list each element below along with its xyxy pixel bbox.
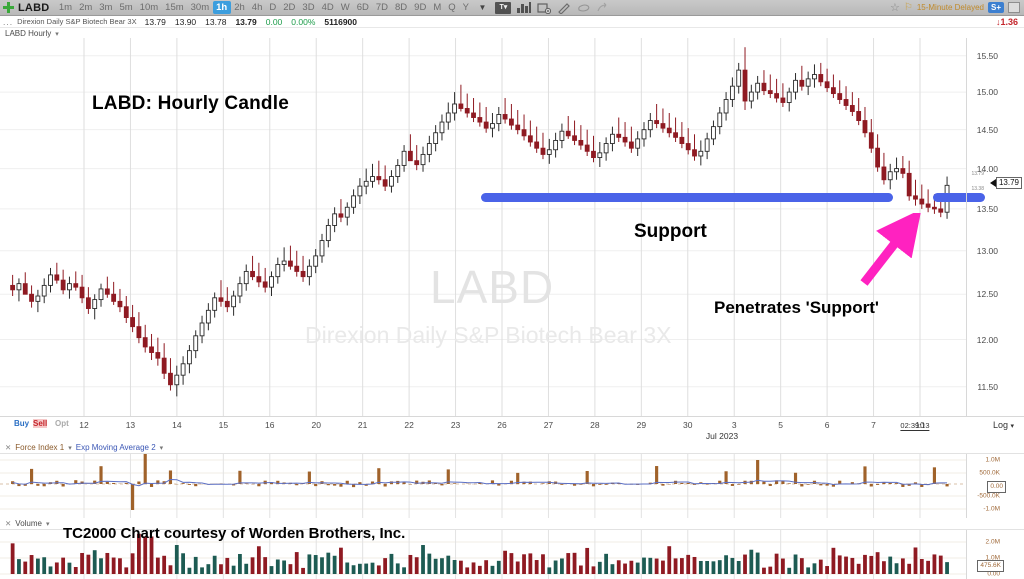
timeframe-1h[interactable]: 1h — [213, 1, 231, 14]
x-axis-tick: 29 — [637, 420, 646, 430]
price-panel-label[interactable]: LABD Hourly — [5, 29, 51, 38]
force-index-y-tick: 500.0K — [979, 470, 1000, 477]
x-icon[interactable]: ✕ — [5, 519, 11, 528]
status-badge[interactable]: S+ — [988, 2, 1004, 13]
timeframe-6D[interactable]: 6D — [353, 1, 372, 14]
timeframe-2D[interactable]: 2D — [280, 1, 299, 14]
flag-icon[interactable]: ⚐ — [904, 2, 913, 13]
text-tool-icon[interactable]: T▾ — [495, 2, 511, 14]
chevron-down-icon: ▾ — [1010, 423, 1014, 430]
snapshot-icon[interactable] — [537, 2, 551, 14]
timeframe-Y[interactable]: Y — [459, 1, 472, 14]
window-control-icon[interactable] — [1008, 2, 1020, 13]
force-index-zero-value: 0.00 — [987, 481, 1006, 493]
share-icon[interactable] — [597, 2, 611, 14]
x-icon[interactable]: ✕ — [5, 443, 11, 452]
x-axis-tick: 27 — [544, 420, 553, 430]
quote-open: 13.79 — [145, 17, 166, 27]
pencil-icon[interactable] — [557, 2, 571, 14]
sell-button[interactable]: Sell — [33, 419, 47, 428]
quote-last: 13.79 — [235, 17, 256, 27]
x-axis[interactable]: Buy Sell Opt 121314151620212223262728293… — [0, 416, 1024, 442]
chevron-down-icon[interactable]: ▼ — [478, 3, 486, 12]
price-y-tick: 13.50 — [977, 204, 998, 214]
quote-change-percent: 0.00% — [291, 17, 315, 27]
x-axis-tick: 5 — [778, 420, 783, 430]
x-axis-tick: 12 — [79, 420, 88, 430]
quote-change: 0.00 — [266, 17, 283, 27]
chevron-down-icon[interactable]: ▾ — [68, 444, 72, 452]
x-axis-tick: 22 — [404, 420, 413, 430]
timeframe-Q[interactable]: Q — [445, 1, 459, 14]
x-axis-tick: 15 — [219, 420, 228, 430]
volume-plot-area[interactable]: TC2000 Chart courtesy of Worden Brothers… — [0, 530, 966, 579]
timeframe-W[interactable]: W — [337, 1, 353, 14]
force-index-panel-header: ✕ Force Index 1 ▾ Exp Moving Average 2 ▾ — [0, 442, 1024, 453]
timeframe-7D[interactable]: 7D — [372, 1, 391, 14]
price-chart-pane[interactable]: LABD Direxion Daily S&P Biotech Bear 3X … — [0, 38, 1024, 416]
x-axis-tick: 7 — [871, 420, 876, 430]
timeframe-D[interactable]: D — [266, 1, 280, 14]
timeframe-9D[interactable]: 9D — [411, 1, 430, 14]
volume-current-marker: 475.6K — [977, 560, 1004, 572]
force-index-plot-area[interactable] — [0, 454, 966, 518]
quote-bar: ... Direxion Daily S&P Biotech Bear 3X 1… — [0, 16, 1024, 28]
x-axis-tick: 28 — [590, 420, 599, 430]
net-change-value: ↓1.36 — [996, 17, 1024, 27]
x-axis-tick: 6 — [825, 420, 830, 430]
price-plot-area[interactable]: LABD Direxion Daily S&P Biotech Bear 3X … — [0, 38, 966, 416]
timeframe-10m[interactable]: 10m — [136, 1, 161, 14]
timeframe-8D[interactable]: 8D — [392, 1, 411, 14]
force-index-y-axis[interactable]: 1.0M500.0K-500.0K-1.0M 0.00 — [966, 454, 1024, 518]
price-y-tick: 12.00 — [977, 335, 998, 345]
volume-y-axis[interactable]: 2.0M1.0M0.00 475.6K — [966, 530, 1024, 579]
courtesy-annotation: TC2000 Chart courtesy of Worden Brothers… — [63, 525, 405, 542]
force-index-y-tick: -500.0K — [977, 493, 1000, 500]
eraser-icon[interactable] — [577, 2, 591, 14]
volume-current-value: 475.6K — [977, 560, 1004, 572]
x-axis-tick: 20 — [311, 420, 320, 430]
force-index-y-tick: -1.0M — [983, 506, 1000, 513]
chart-title-annotation: LABD: Hourly Candle — [92, 93, 289, 115]
timeframe-selector[interactable]: 1m2m3m5m10m15m30m1h2h4hD2D3D4DW6D7D8D9DM… — [55, 1, 472, 14]
indicator-force-index[interactable]: Force Index 1 — [15, 443, 64, 452]
timeframe-3m[interactable]: 3m — [96, 1, 116, 14]
chevron-down-icon[interactable]: ▾ — [46, 520, 50, 528]
chevron-down-icon[interactable]: ▾ — [160, 444, 164, 452]
options-button[interactable]: Opt — [55, 419, 69, 428]
timeframe-3D[interactable]: 3D — [299, 1, 318, 14]
price-y-tick: 13.00 — [977, 246, 998, 256]
delayed-status-label: 15-Minute Delayed — [917, 3, 984, 12]
quote-volume: 5116900 — [324, 17, 357, 27]
x-axis-tick: 13 — [126, 420, 135, 430]
x-axis-tick: 16 — [265, 420, 274, 430]
timeframe-30m[interactable]: 30m — [187, 1, 212, 14]
timeframe-4D[interactable]: 4D — [318, 1, 337, 14]
company-name: Direxion Daily S&P Biotech Bear 3X — [17, 17, 137, 26]
current-price-value: 13.79 — [996, 177, 1022, 189]
penetrates-annotation: Penetrates 'Support' — [714, 298, 879, 318]
price-y-tick: 11.50 — [977, 382, 998, 392]
x-axis-tick: 3 — [732, 420, 737, 430]
x-axis-tick: 21 — [358, 420, 367, 430]
support-annotation: Support — [634, 221, 707, 243]
timeframe-1m[interactable]: 1m — [55, 1, 75, 14]
log-scale-toggle[interactable]: Log ▾ — [993, 420, 1014, 430]
x-axis-tick: 14 — [172, 420, 181, 430]
force-index-pane[interactable]: 1.0M500.0K-500.0K-1.0M 0.00 — [0, 453, 1024, 518]
force-index-zero-marker: 0.00 — [987, 481, 1006, 493]
support-line-main[interactable] — [481, 193, 893, 202]
x-axis-tick: 30 — [683, 420, 692, 430]
add-symbol-icon[interactable] — [2, 1, 15, 14]
price-y-axis[interactable]: 15.5015.0014.5014.0013.5013.0012.5012.00… — [966, 38, 1024, 416]
symbol-label[interactable]: LABD — [18, 2, 49, 14]
volume-pane[interactable]: TC2000 Chart courtesy of Worden Brothers… — [0, 529, 1024, 579]
magenta-arrow-icon — [850, 213, 930, 293]
quote-high: 13.90 — [175, 17, 196, 27]
timeframe-M[interactable]: M — [430, 1, 445, 14]
buy-button[interactable]: Buy — [14, 419, 29, 428]
bar-countdown-timer: 02:39:13 — [900, 421, 929, 431]
price-y-tick: 12.50 — [977, 289, 998, 299]
price-y-tick: 15.00 — [977, 87, 998, 97]
timeframe-2m[interactable]: 2m — [76, 1, 96, 14]
current-price-marker: 13.79 — [990, 177, 1022, 189]
star-icon[interactable]: ☆ — [890, 1, 900, 14]
quote-low: 13.78 — [205, 17, 226, 27]
chevron-down-icon[interactable]: ▾ — [55, 30, 59, 38]
price-marker-high: 13.79 — [971, 171, 984, 177]
x-axis-tick: 26 — [497, 420, 506, 430]
price-marker-low: 13.38 — [971, 186, 984, 192]
indicator-exp-moving-average[interactable]: Exp Moving Average 2 — [76, 443, 156, 452]
x-axis-month-label: Jul 2023 — [706, 431, 738, 441]
price-y-tick: 15.50 — [977, 51, 998, 61]
bar-chart-icon[interactable] — [517, 2, 531, 13]
timeframe-15m[interactable]: 15m — [162, 1, 187, 14]
price-y-tick: 14.50 — [977, 125, 998, 135]
quote-menu-icon[interactable]: ... — [3, 17, 13, 27]
top-toolbar: LABD 1m2m3m5m10m15m30m1h2h4hD2D3D4DW6D7D… — [0, 0, 1024, 16]
timeframe-4h[interactable]: 4h — [248, 1, 266, 14]
x-axis-tick: 23 — [451, 420, 460, 430]
volume-indicator-label[interactable]: Volume — [15, 519, 42, 528]
timeframe-5m[interactable]: 5m — [116, 1, 136, 14]
timeframe-2h[interactable]: 2h — [231, 1, 249, 14]
volume-y-tick: 2.0M — [986, 539, 1000, 546]
force-index-y-tick: 1.0M — [986, 457, 1000, 464]
